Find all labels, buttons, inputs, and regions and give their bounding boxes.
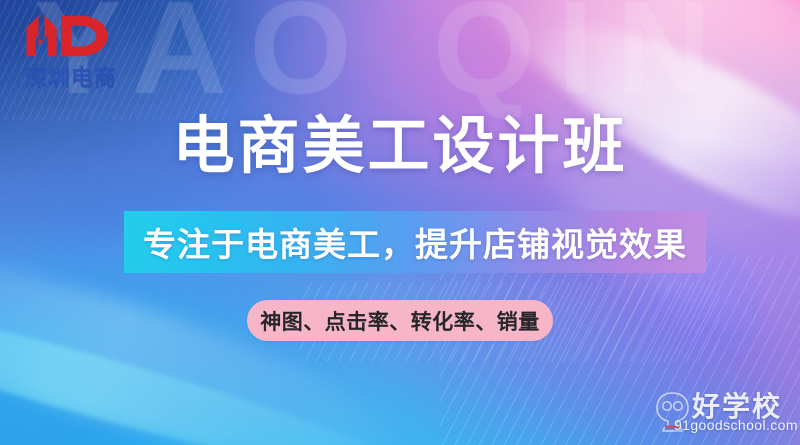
background-watermark-text: YAO QIN (34, 0, 733, 123)
watermark-url: 91goodschool.com (674, 417, 798, 433)
light-streak-cyan-line (0, 263, 435, 445)
page-title: 电商美工设计班 (0, 112, 800, 182)
course-banner: YAO QIN 深圳电商 电商美工设计班 专注于电商美工，提升店铺视觉效果 神图… (0, 0, 800, 445)
site-watermark: 好学校 91goodschool.com (652, 385, 792, 439)
subtitle-text: 专注于电商美工，提升店铺视觉效果 (143, 218, 687, 266)
md-monogram-icon (22, 12, 112, 60)
brand-logo: 深圳电商 (22, 12, 127, 86)
keyword-tag-text: 神图、点击率、转化率、销量 (260, 306, 540, 336)
logo-subtext: 深圳电商 (25, 60, 117, 92)
keyword-tag-pill: 神图、点击率、转化率、销量 (247, 300, 553, 341)
subtitle-bar: 专注于电商美工，提升店铺视觉效果 (124, 211, 706, 273)
